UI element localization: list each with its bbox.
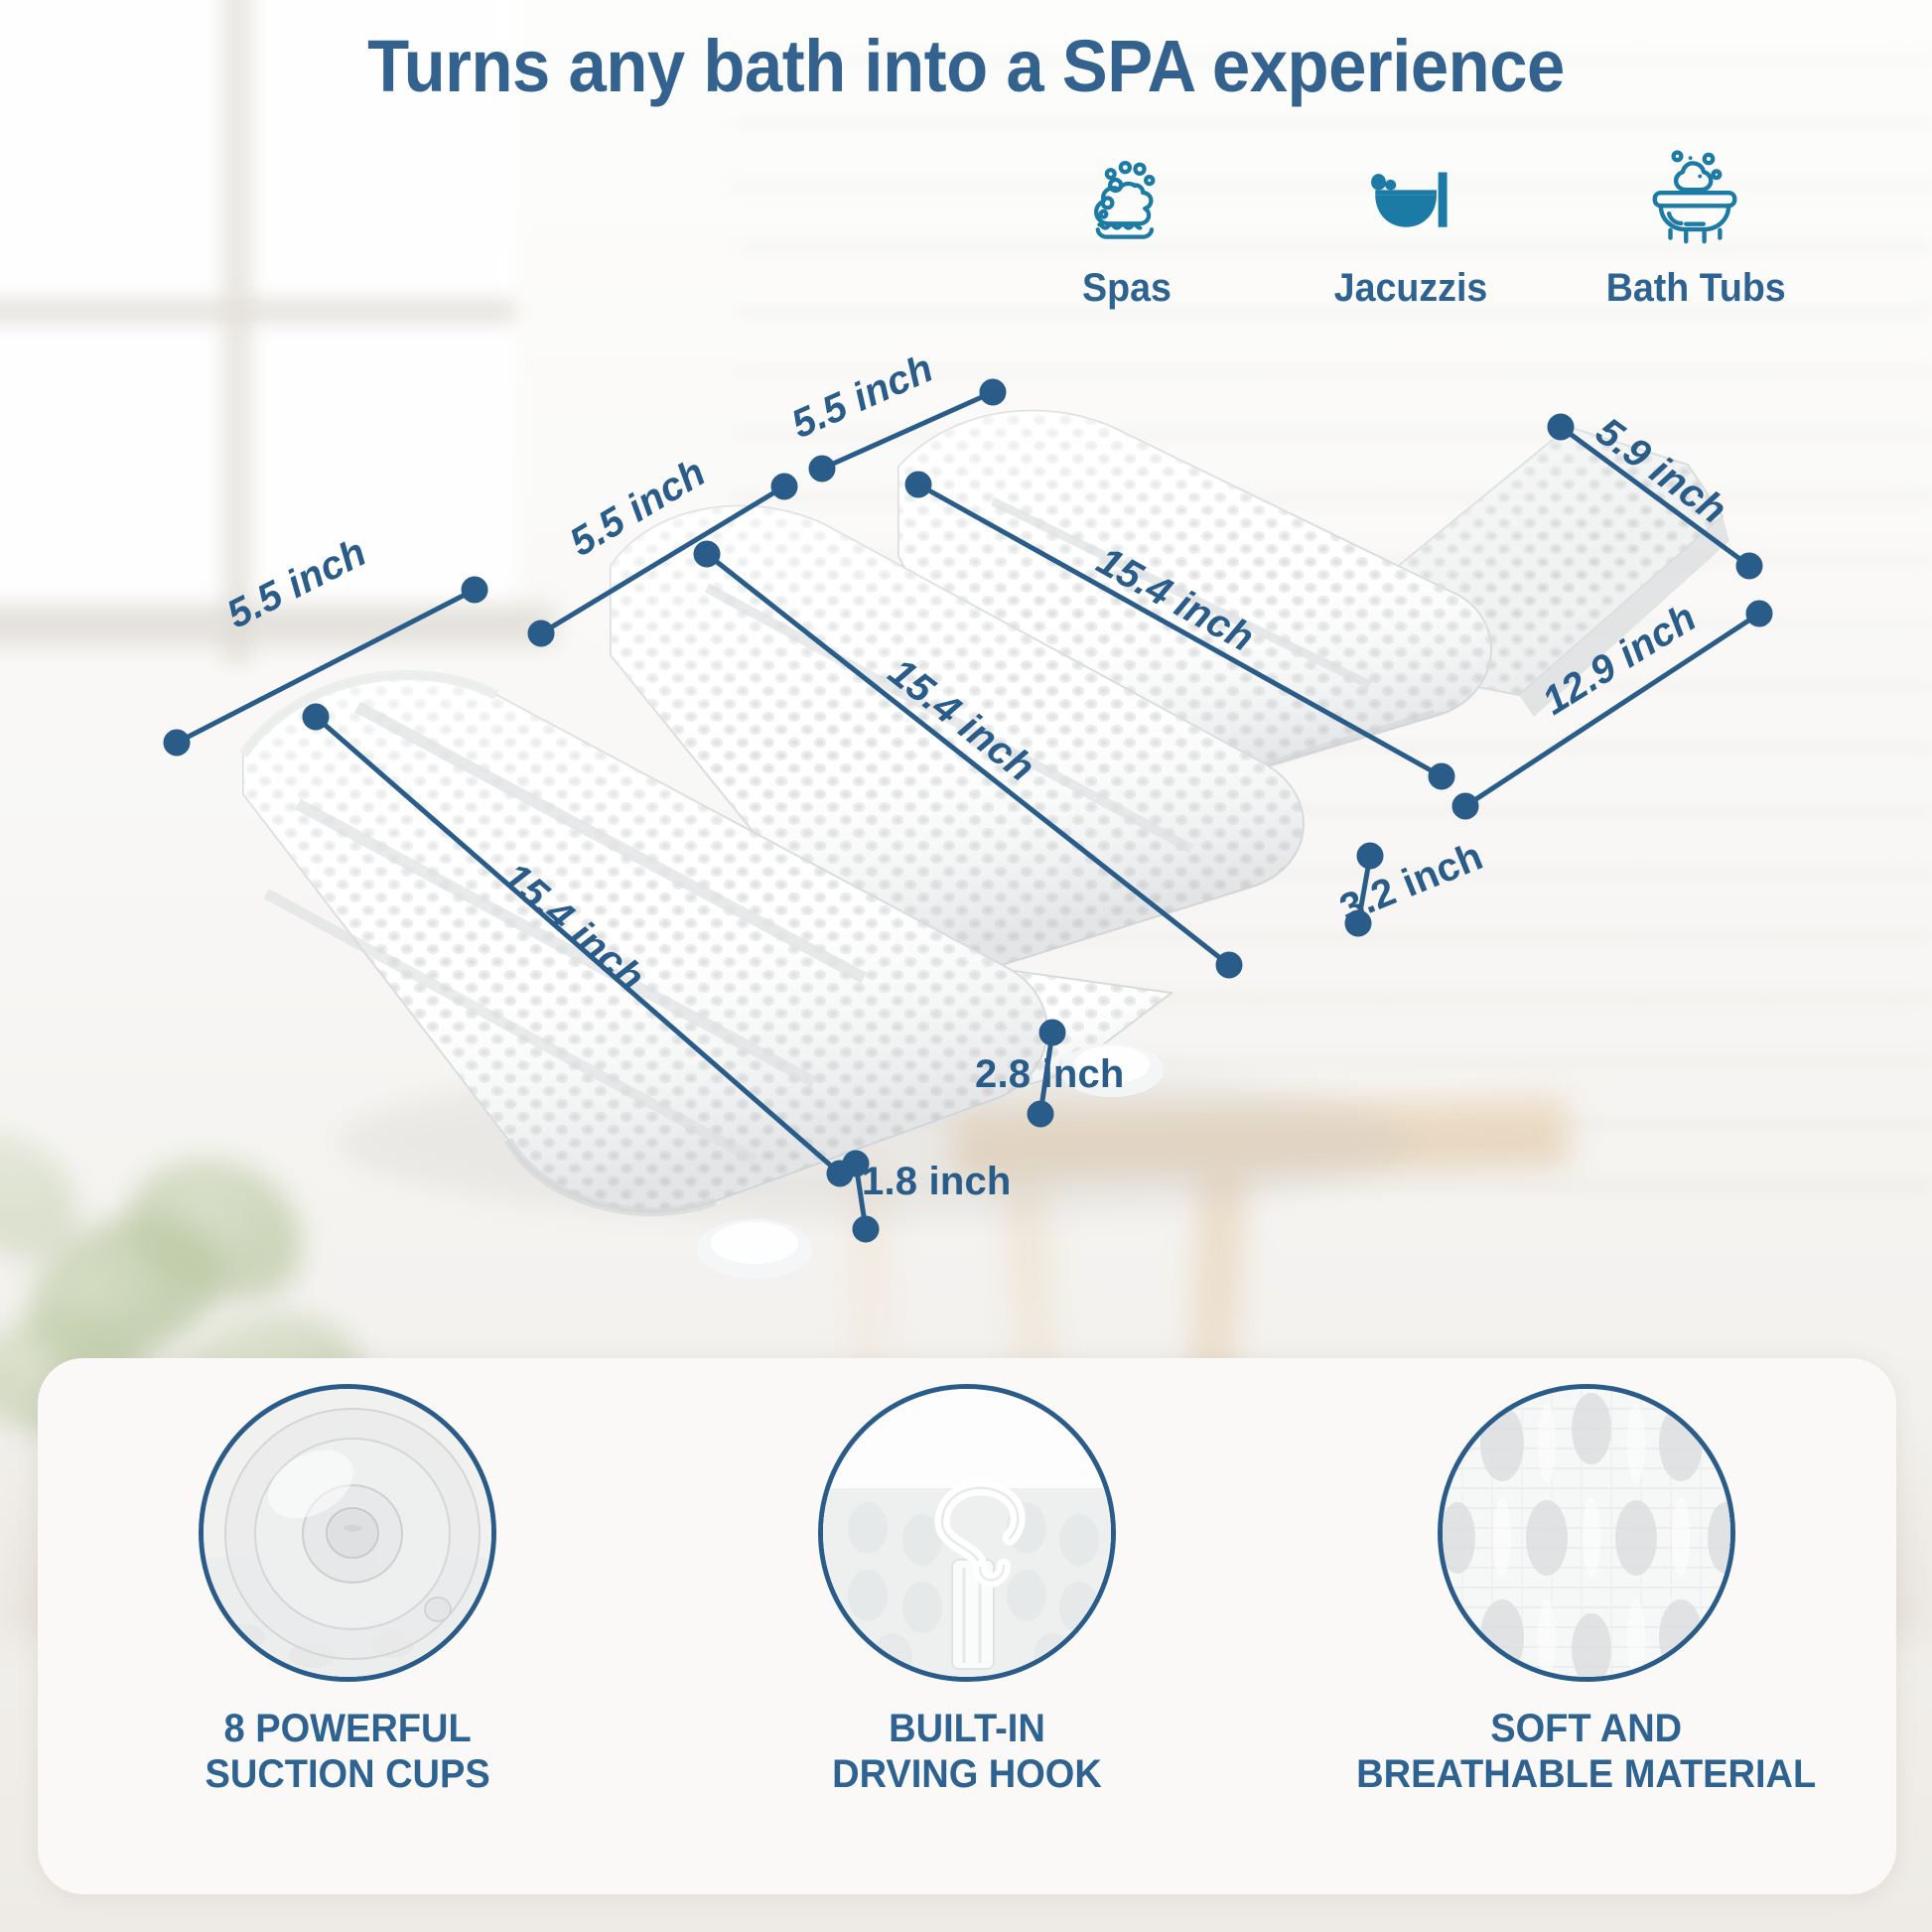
drying-hook-photo: [818, 1384, 1116, 1682]
infographic-canvas: Turns any bath into a SPA experience Sp: [0, 0, 1932, 1932]
feature-caption: SOFT AND BREATHABLE MATERIAL: [1356, 1706, 1816, 1798]
feature-caption-line2: BREATHABLE MATERIAL: [1356, 1751, 1816, 1797]
feature-caption-line1: BUILT-IN: [832, 1706, 1102, 1751]
dim-middle-thickness: 2.8 inch: [975, 1052, 1125, 1097]
feature-caption-line1: 8 POWERFUL: [205, 1706, 489, 1751]
feature-caption-line2: SUCTION CUPS: [205, 1751, 489, 1797]
feature-caption: BUILT-IN DRVING HOOK: [832, 1706, 1102, 1798]
feature-suction-cups: 8 POWERFUL SUCTION CUPS: [38, 1358, 657, 1894]
dim-lower-thickness: 1.8 inch: [862, 1160, 1012, 1204]
feature-panel: 8 POWERFUL SUCTION CUPS: [38, 1358, 1896, 1894]
feature-drying-hook: BUILT-IN DRVING HOOK: [657, 1358, 1277, 1894]
suction-cup-photo: [199, 1384, 496, 1682]
air-mesh-fabric-photo: [1438, 1384, 1735, 1682]
feature-caption-line1: SOFT AND: [1356, 1706, 1816, 1751]
feature-breathable-material: SOFT AND BREATHABLE MATERIAL: [1277, 1358, 1896, 1894]
feature-caption: 8 POWERFUL SUCTION CUPS: [205, 1706, 489, 1798]
feature-caption-line2: DRVING HOOK: [832, 1751, 1102, 1797]
